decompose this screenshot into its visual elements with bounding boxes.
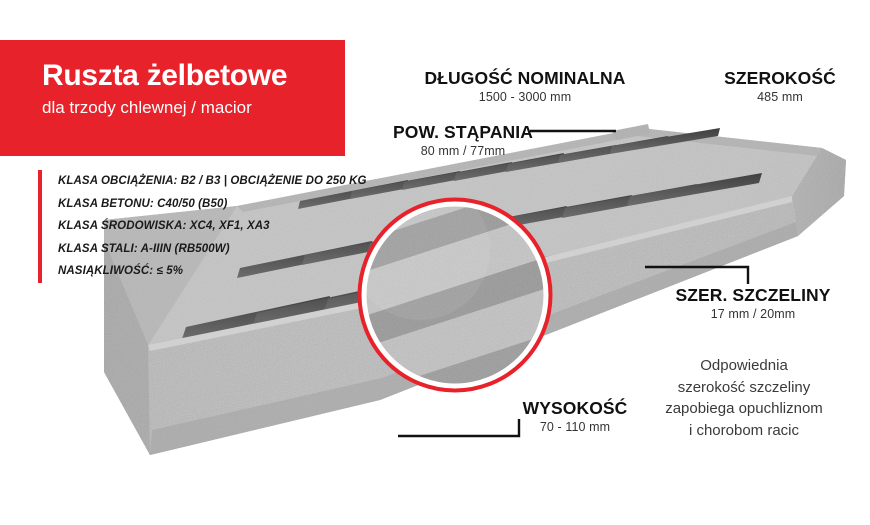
leader-gap xyxy=(645,267,748,284)
page-subtitle: dla trzody chlewnej / macior xyxy=(42,96,345,120)
specification-list: KLASA OBCIĄŻENIA: B2 / B3 | OBCIĄŻENIE D… xyxy=(38,170,367,283)
callout-tread-surface: POW. STĄPANIA 80 mm / 77mm xyxy=(388,122,538,160)
slab-right-end-face xyxy=(792,148,846,236)
note-line-4: i chorobom racic xyxy=(630,420,858,442)
spec-item-load-class: KLASA OBCIĄŻENIA: B2 / B3 | OBCIĄŻENIE D… xyxy=(58,170,367,193)
page-title: Ruszta żelbetowe xyxy=(42,58,345,94)
callout-height-value: 70 - 110 mm xyxy=(500,419,650,436)
infographic-canvas: Ruszta żelbetowe dla trzody chlewnej / m… xyxy=(0,0,870,525)
header-banner: Ruszta żelbetowe dla trzody chlewnej / m… xyxy=(0,40,345,156)
benefit-note: Odpowiednia szerokość szczeliny zapobieg… xyxy=(630,355,858,441)
callout-gap-title: SZER. SZCZELINY xyxy=(658,285,848,306)
note-line-2: szerokość szczeliny xyxy=(630,377,858,399)
callout-tread-title: POW. STĄPANIA xyxy=(388,122,538,143)
callout-length-title: DŁUGOŚĆ NOMINALNA xyxy=(405,68,645,89)
callout-nominal-length: DŁUGOŚĆ NOMINALNA 1500 - 3000 mm xyxy=(405,68,645,106)
spec-item-concrete-class: KLASA BETONU: C40/50 (B50) xyxy=(58,193,367,216)
callout-length-value: 1500 - 3000 mm xyxy=(405,89,645,106)
slab-back-notch xyxy=(612,124,650,140)
spec-item-absorbability: NASIĄKLIWOŚĆ: ≤ 5% xyxy=(58,260,367,283)
callout-height-title: WYSOKOŚĆ xyxy=(500,398,650,419)
callout-gap-width: SZER. SZCZELINY 17 mm / 20mm xyxy=(658,285,848,323)
callout-width: SZEROKOŚĆ 485 mm xyxy=(700,68,860,106)
note-line-1: Odpowiednia xyxy=(630,355,858,377)
callout-width-title: SZEROKOŚĆ xyxy=(700,68,860,89)
callout-gap-value: 17 mm / 20mm xyxy=(658,306,848,323)
spec-item-environment-class: KLASA ŚRODOWISKA: XC4, XF1, XA3 xyxy=(58,215,367,238)
spec-item-steel-class: KLASA STALI: A-IIIN (RB500W) xyxy=(58,238,367,261)
specs-accent-bar xyxy=(38,170,42,283)
callout-width-value: 485 mm xyxy=(700,89,860,106)
callout-height: WYSOKOŚĆ 70 - 110 mm xyxy=(500,398,650,436)
note-line-3: zapobiega opuchliznom xyxy=(630,398,858,420)
callout-tread-value: 80 mm / 77mm xyxy=(388,143,538,160)
